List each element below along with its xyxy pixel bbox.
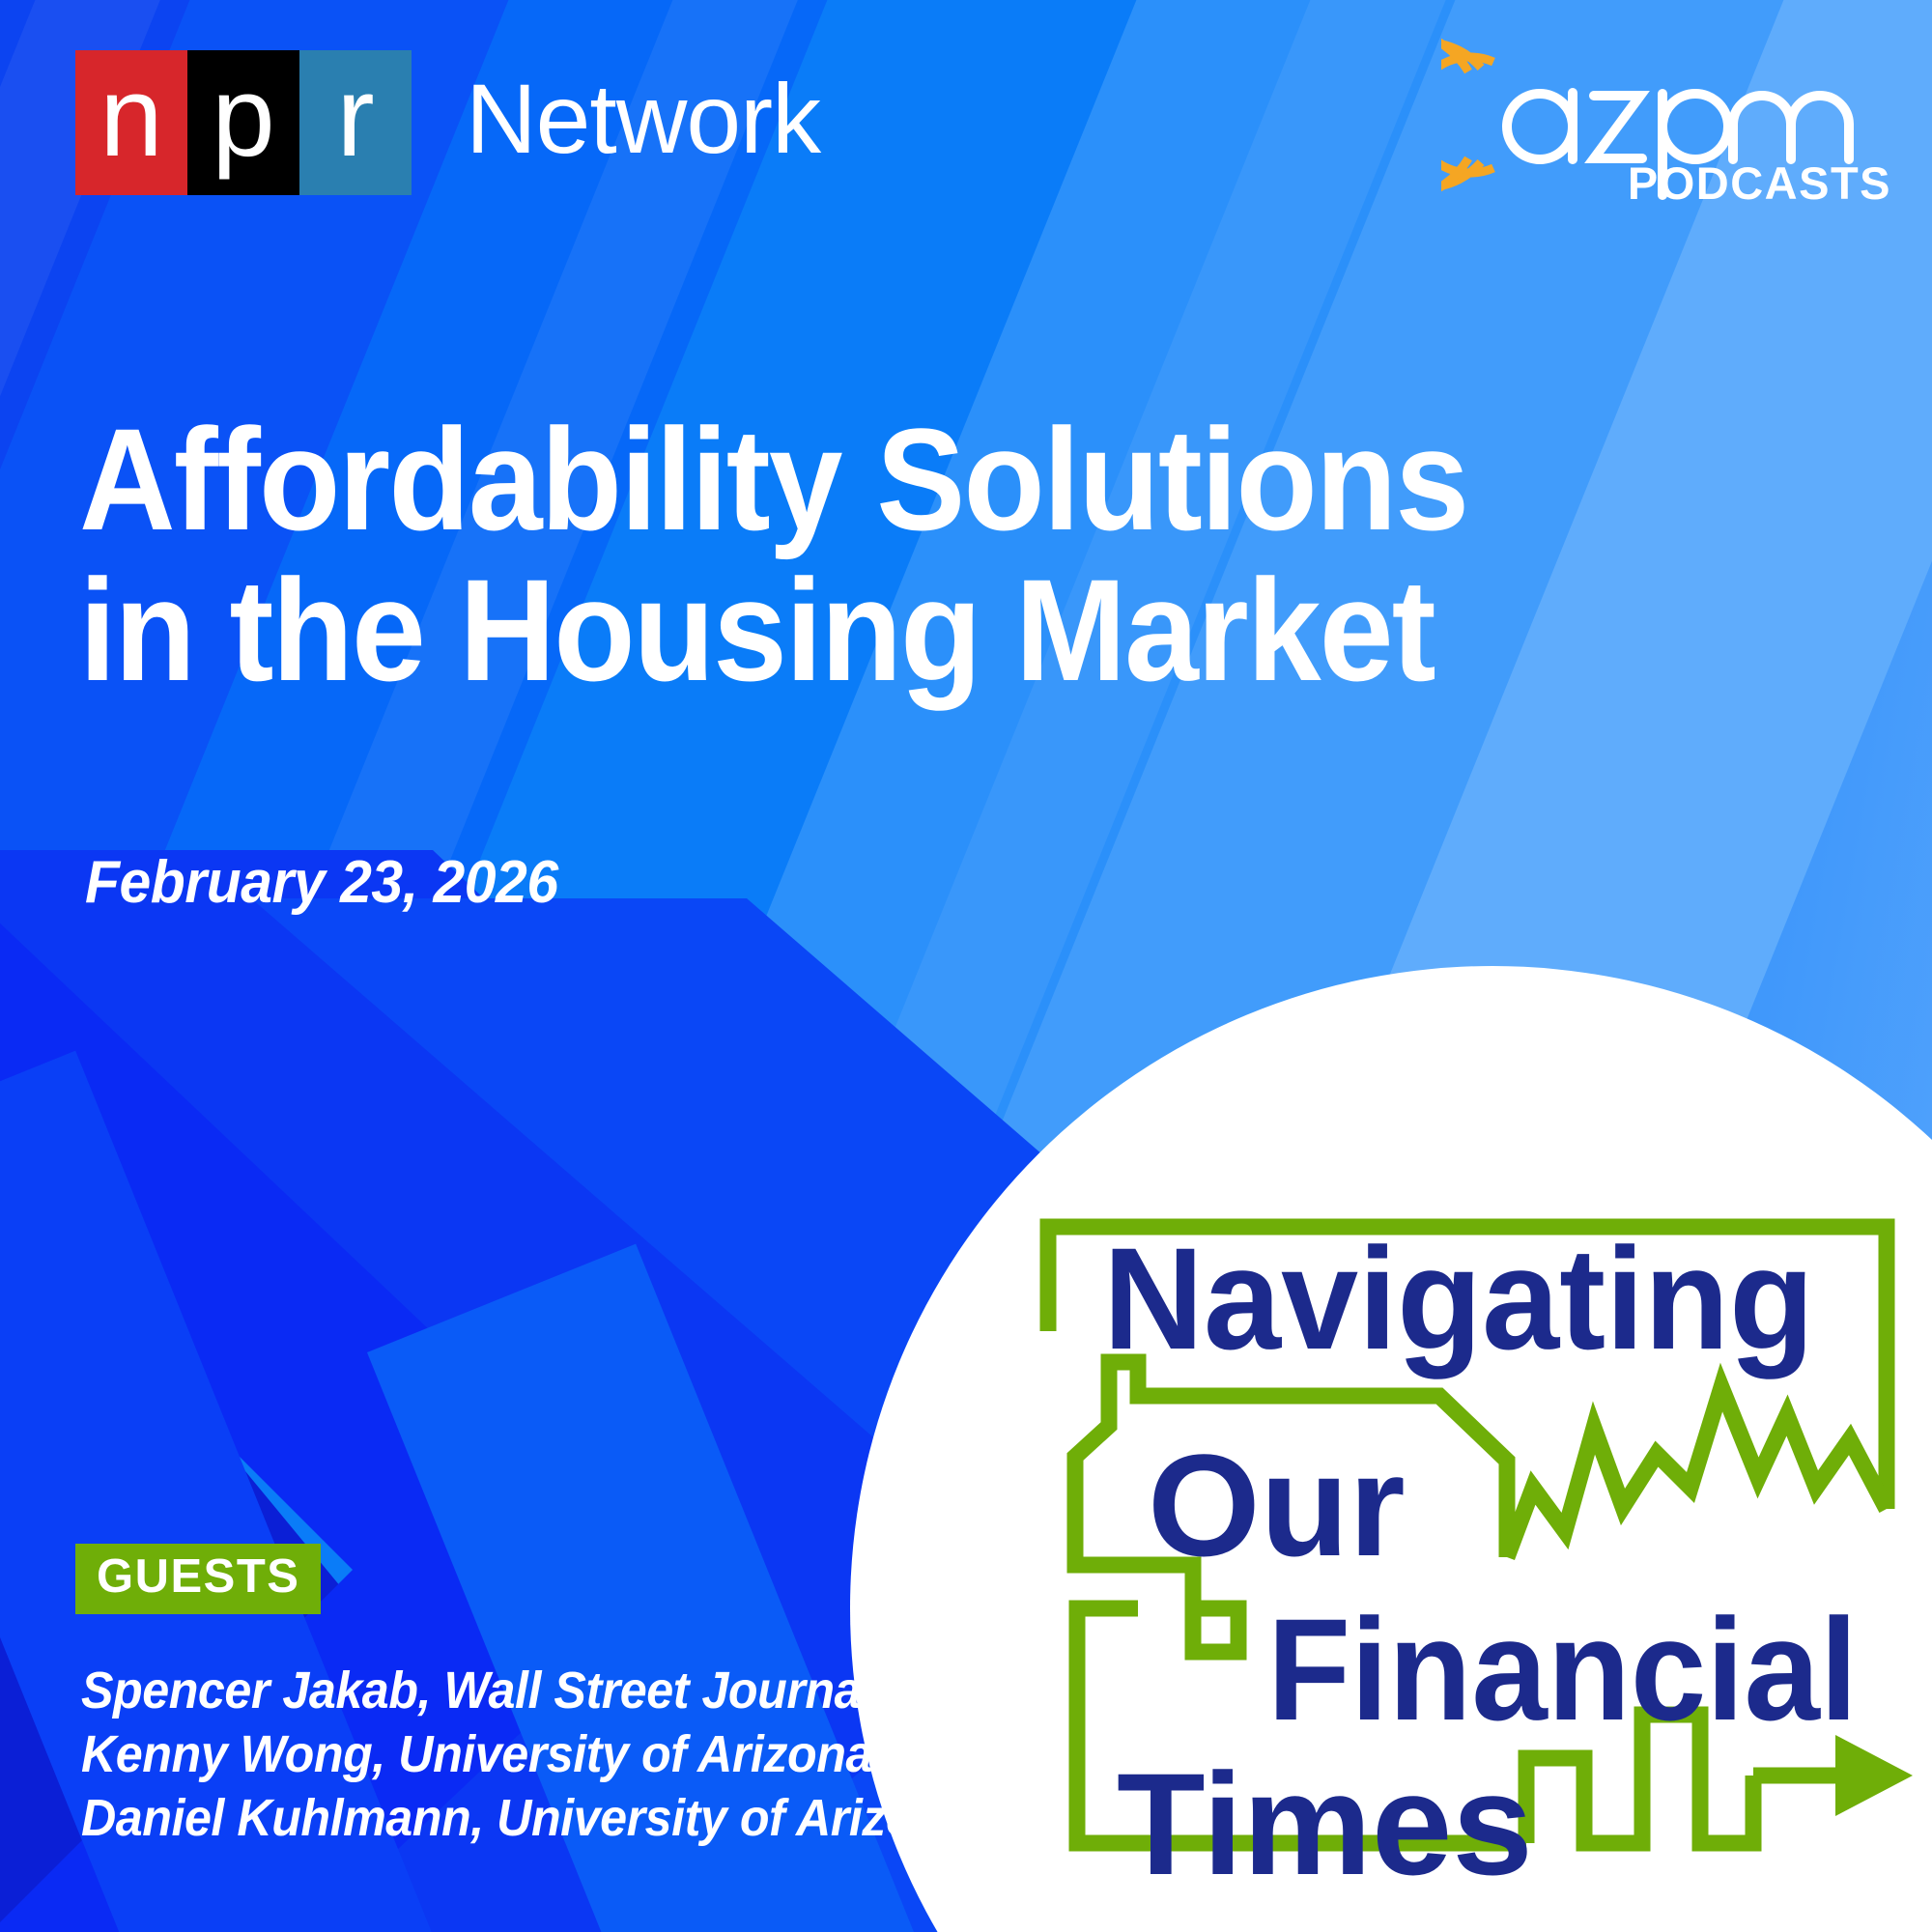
guest-list: Spencer Jakab, Wall Street Journal Kenny… bbox=[81, 1660, 971, 1851]
episode-title: Affordability Solutions in the Housing M… bbox=[79, 404, 1696, 705]
episode-title-line-1: Affordability Solutions bbox=[79, 404, 1696, 554]
noft-line-times: Times bbox=[1117, 1743, 1533, 1893]
npr-letter-p: p bbox=[212, 60, 275, 174]
npr-network-label: Network bbox=[466, 70, 820, 168]
npr-letter-n-block: n bbox=[75, 50, 187, 195]
npr-letter-r: r bbox=[336, 60, 374, 174]
npr-network-logo: n p r Network bbox=[75, 50, 820, 195]
noft-line-our: Our bbox=[1148, 1424, 1406, 1586]
npr-letter-p-block: p bbox=[187, 50, 299, 195]
noft-wordmark: Navigating Our Financial Times bbox=[1103, 1218, 1858, 1893]
noft-line-navigating: Navigating bbox=[1103, 1218, 1814, 1379]
guest-item-3: Daniel Kuhlmann, University of Arizona bbox=[81, 1787, 971, 1851]
podcast-cover-art: n p r Network bbox=[0, 0, 1932, 1932]
episode-date: February 23, 2026 bbox=[85, 848, 558, 917]
guests-badge: GUESTS bbox=[75, 1544, 321, 1614]
azpm-podcasts-label: PODCASTS bbox=[1628, 157, 1891, 202]
guest-item-2: Kenny Wong, University of Arizona bbox=[81, 1723, 971, 1787]
npr-letter-n: n bbox=[99, 60, 163, 174]
episode-title-line-2: in the Housing Market bbox=[79, 554, 1696, 705]
guest-item-1: Spencer Jakab, Wall Street Journal bbox=[81, 1660, 971, 1723]
npr-letter-r-block: r bbox=[299, 50, 412, 195]
navigating-our-financial-times-logo: Navigating Our Financial Times bbox=[1024, 1198, 1913, 1893]
noft-line-financial: Financial bbox=[1267, 1588, 1858, 1750]
azpm-arc-icon bbox=[1441, 33, 1493, 200]
npr-letter-blocks: n p r bbox=[75, 50, 412, 195]
azpm-podcasts-logo: PODCASTS bbox=[1441, 33, 1895, 202]
